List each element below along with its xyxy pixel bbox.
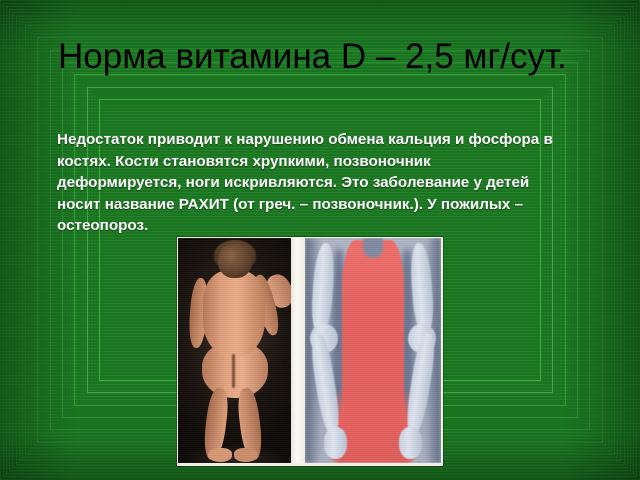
- xray-grain-overlay: [305, 238, 441, 463]
- panel-divider: [291, 238, 305, 463]
- photo-grain-overlay: [178, 238, 291, 463]
- child-photo-panel: [178, 238, 291, 463]
- rickets-comparison-image: [177, 237, 443, 466]
- page-title: Норма витамина D – 2,5 мг/сут.: [58, 36, 618, 78]
- xray-panel: [305, 238, 441, 463]
- body-paragraph: Недостаток приводит к нарушению обмена к…: [57, 129, 557, 237]
- presentation-slide: Норма витамина D – 2,5 мг/сут. Недостато…: [0, 0, 640, 480]
